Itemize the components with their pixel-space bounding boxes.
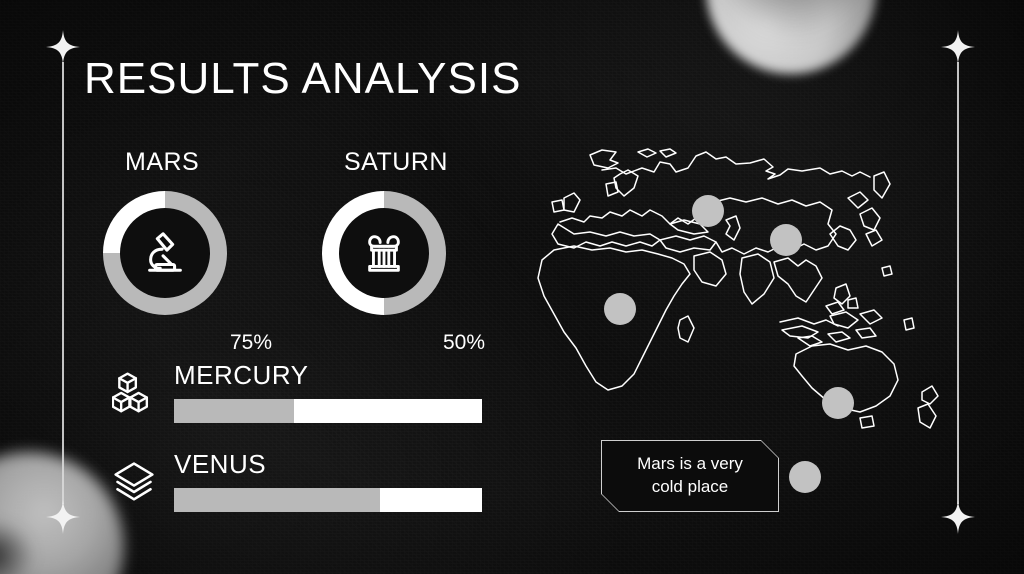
marker-australia	[822, 387, 854, 419]
progress-fill-venus	[174, 488, 380, 512]
callout-body: Mars is a very cold place	[602, 441, 778, 511]
progress-track-venus	[174, 488, 482, 512]
donut-label-saturn: SATURN	[322, 148, 448, 177]
callout-line-1: Mars is a very	[637, 454, 743, 473]
donut-chart-mars: MARS 75%	[103, 148, 227, 315]
donut-ring-wrap-mars: 75%	[103, 191, 227, 315]
donut-value-saturn: 50%	[443, 331, 485, 355]
slide-root: RESULTS ANALYSIS MARS 75% SATURN	[0, 0, 1024, 574]
callout-text: Mars is a very cold place	[623, 453, 757, 499]
progress-label-mercury: MERCURY	[174, 360, 482, 391]
marker-east-asia	[770, 224, 802, 256]
donut-ring-wrap-saturn: 50%	[322, 191, 446, 315]
column-icon	[361, 230, 407, 276]
marker-africa	[604, 293, 636, 325]
donut-center-mars	[120, 208, 210, 298]
marker-south-pacific	[789, 461, 821, 493]
cubes-icon	[108, 361, 160, 423]
donut-label-mars: MARS	[103, 148, 227, 177]
progress-track-mercury	[174, 399, 482, 423]
progress-label-venus: VENUS	[174, 449, 482, 480]
donut-value-mars: 75%	[230, 331, 272, 355]
map-callout: Mars is a very cold place	[601, 440, 779, 512]
progress-item-mercury: MERCURY	[108, 360, 482, 423]
callout-line-2: cold place	[652, 477, 729, 496]
donut-chart-saturn: SATURN 50%	[322, 148, 448, 315]
page-title: RESULTS ANALYSIS	[84, 54, 521, 104]
microscope-icon	[142, 230, 188, 276]
vertical-rule-left	[62, 62, 64, 504]
progress-item-venus: VENUS	[108, 449, 482, 512]
layers-icon	[108, 450, 160, 512]
progress-fill-mercury	[174, 399, 294, 423]
donut-center-saturn	[339, 208, 429, 298]
marker-central-asia	[692, 195, 724, 227]
